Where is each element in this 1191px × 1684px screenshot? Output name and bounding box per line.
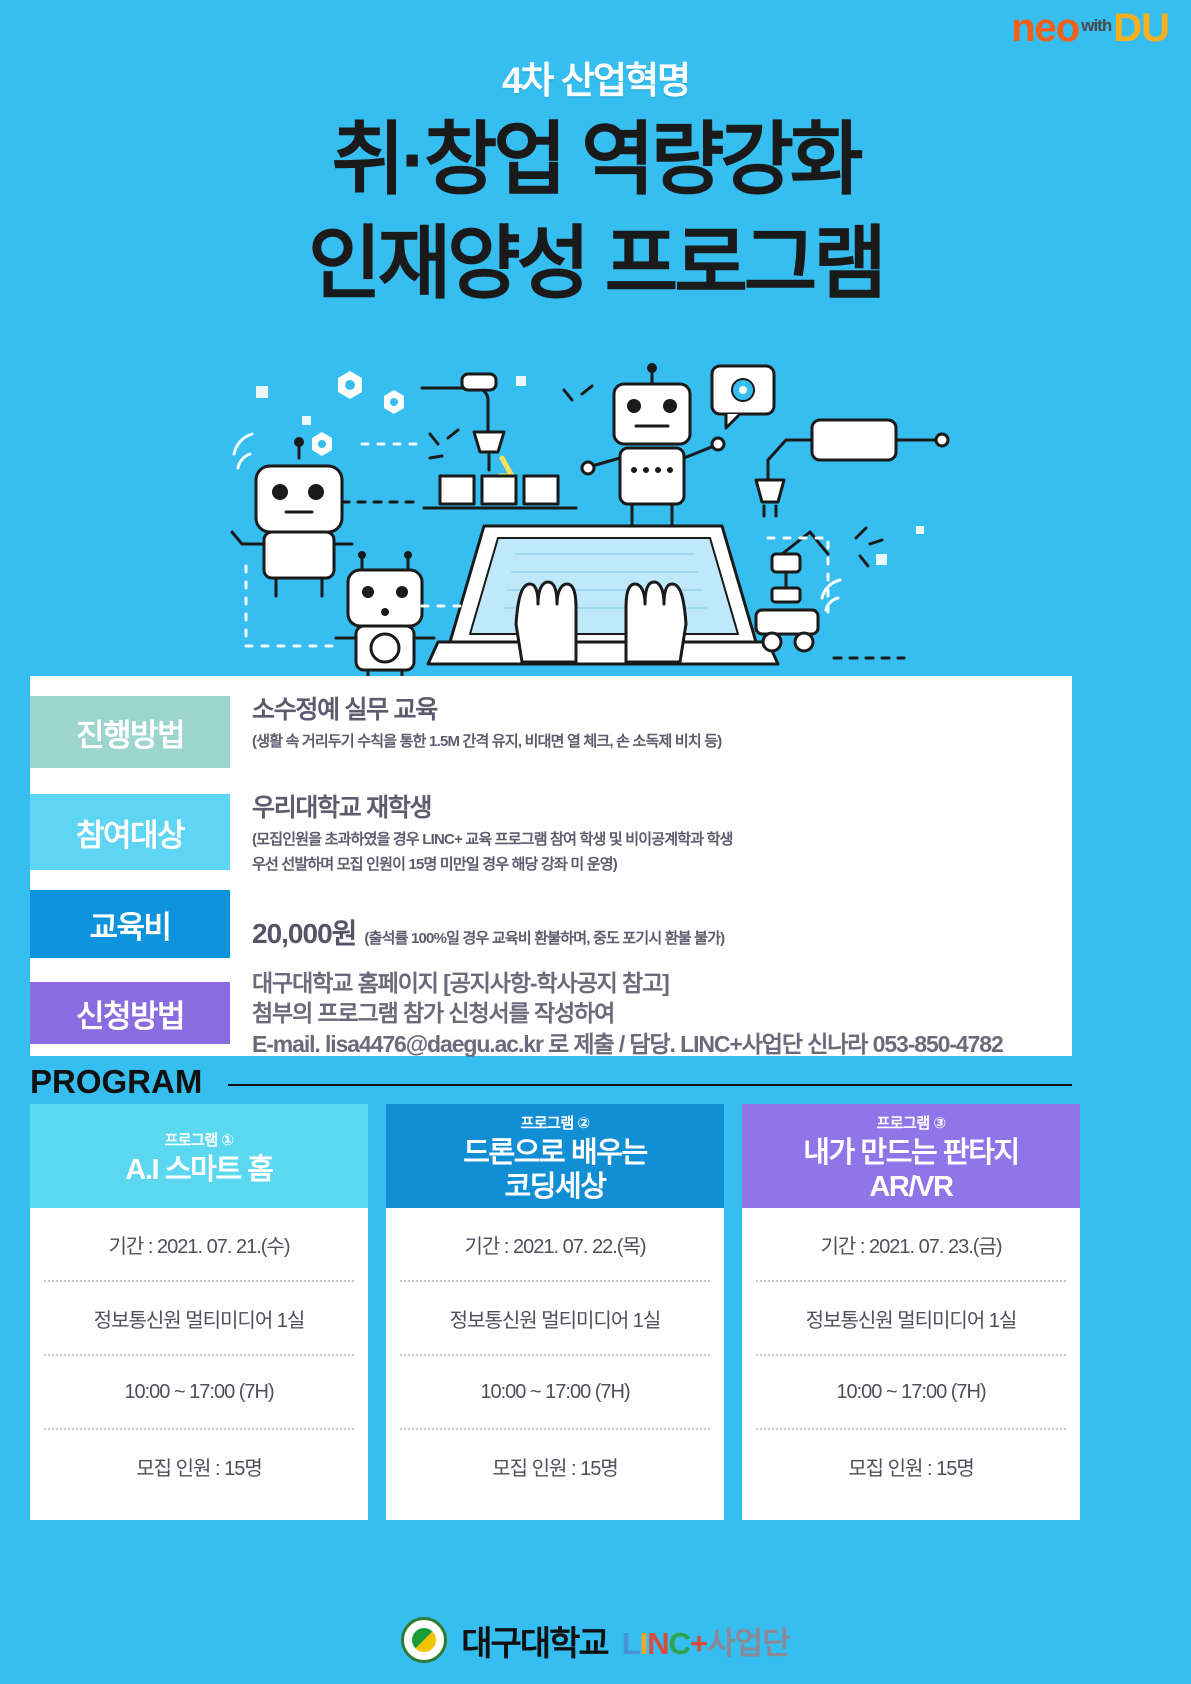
program-card-3-time: 10:00 ~ 17:00 (7H) xyxy=(756,1356,1066,1430)
headline-kicker: 4차 산업혁명 xyxy=(0,62,1191,99)
info-tag-fee: 교육비 xyxy=(30,890,230,958)
linc-letter-c: C xyxy=(669,1626,690,1661)
program-card-1-place: 정보통신원 멀티미디어 1실 xyxy=(44,1282,354,1356)
program-card-3-capacity: 모집 인원 : 15명 xyxy=(756,1430,1066,1502)
program-card-1-time: 10:00 ~ 17:00 (7H) xyxy=(44,1356,354,1430)
program-section-header: PROGRAM xyxy=(30,1060,1072,1104)
headline-block: 4차 산업혁명 취·창업 역량강화 인재양성 프로그램 xyxy=(0,62,1191,308)
program-card-3-date: 기간 : 2021. 07. 23.(금) xyxy=(756,1208,1066,1282)
program-card-1-kicker: 프로그램 ① xyxy=(164,1129,233,1150)
footer-university-name: 대구대학교 xyxy=(461,1616,607,1665)
headline-line-2: 인재양성 프로그램 xyxy=(0,219,1191,309)
linc-letter-n: N xyxy=(647,1626,668,1661)
logo-du-text: DU xyxy=(1113,8,1169,48)
program-card-2-place: 정보통신원 멀티미디어 1실 xyxy=(400,1282,710,1356)
poster-root: neo with DU 4차 산업혁명 취·창업 역량강화 인재양성 프로그램 xyxy=(0,0,1191,1684)
program-card-list: 프로그램 ① A.I 스마트 홈 기간 : 2021. 07. 21.(수) 정… xyxy=(30,1104,1162,1520)
program-card-1-capacity: 모집 인원 : 15명 xyxy=(44,1430,354,1502)
program-card-3-title: 내가 만드는 판타지 AR/VR xyxy=(803,1137,1019,1204)
university-seal-icon xyxy=(401,1617,447,1663)
method-title: 소수정예 실무 교육 xyxy=(252,696,721,725)
method-note: (생활 속 거리두기 수칙을 통한 1.5M 간격 유지, 비대면 열 체크, … xyxy=(252,730,721,753)
target-title: 우리대학교 재학생 xyxy=(252,794,733,823)
program-card-1-title: A.I 스마트 홈 xyxy=(125,1154,272,1188)
program-heading: PROGRAM xyxy=(30,1063,202,1101)
program-card-3-title-line-2: AR/VR xyxy=(803,1171,1019,1205)
program-card-2[interactable]: 프로그램 ② 드론으로 배우는 코딩세상 기간 : 2021. 07. 22.(… xyxy=(386,1104,724,1520)
program-divider xyxy=(228,1084,1072,1086)
info-row-fee: 교육비 20,000원 (출석률 100%일 경우 교육비 환불하며, 중도 포… xyxy=(30,890,724,958)
linc-letter-l: L xyxy=(622,1626,640,1661)
apply-line-3: E-mail. lisa4476@daegu.ac.kr 로 제출 / 담당. … xyxy=(252,1029,1003,1059)
program-card-1-body: 기간 : 2021. 07. 21.(수) 정보통신원 멀티미디어 1실 10:… xyxy=(30,1208,368,1520)
program-card-2-kicker: 프로그램 ② xyxy=(520,1112,589,1133)
info-tag-method: 진행방법 xyxy=(30,696,230,768)
linc-letter-plus: + xyxy=(690,1626,707,1661)
info-body-target: 우리대학교 재학생 (모집인원을 초과하였을 경우 LINC+ 교육 프로그램 … xyxy=(230,794,733,876)
linc-suffix: 사업단 xyxy=(707,1626,790,1661)
program-card-1-date: 기간 : 2021. 07. 21.(수) xyxy=(44,1208,354,1282)
program-card-3-title-line-1: 내가 만드는 판타지 xyxy=(803,1137,1019,1171)
footer-branding: 대구대학교 LINC+사업단 xyxy=(0,1596,1191,1684)
info-row-method: 진행방법 소수정예 실무 교육 (생활 속 거리두기 수칙을 통한 1.5M 간… xyxy=(30,696,721,768)
robotics-illustration xyxy=(0,358,1191,676)
logo-with-text: with xyxy=(1081,17,1111,34)
program-card-2-title: 드론으로 배우는 코딩세상 xyxy=(463,1137,647,1204)
program-card-3-place: 정보통신원 멀티미디어 1실 xyxy=(756,1282,1066,1356)
program-card-1-header: 프로그램 ① A.I 스마트 홈 xyxy=(30,1104,368,1208)
program-card-2-header: 프로그램 ② 드론으로 배우는 코딩세상 xyxy=(386,1104,724,1208)
apply-line-2: 첨부의 프로그램 참가 신청서를 작성하여 xyxy=(252,998,1003,1028)
program-card-2-date: 기간 : 2021. 07. 22.(목) xyxy=(400,1208,710,1282)
program-card-2-body: 기간 : 2021. 07. 22.(목) 정보통신원 멀티미디어 1실 10:… xyxy=(386,1208,724,1520)
fee-amount: 20,000원 xyxy=(252,912,356,952)
program-card-2-title-line-2: 코딩세상 xyxy=(463,1171,647,1205)
info-row-target: 참여대상 우리대학교 재학생 (모집인원을 초과하였을 경우 LINC+ 교육 … xyxy=(30,794,733,876)
info-row-apply: 신청방법 대구대학교 홈페이지 [공지사항-학사공지 참고] 첨부의 프로그램 … xyxy=(30,982,1003,1059)
program-card-3-header: 프로그램 ③ 내가 만드는 판타지 AR/VR xyxy=(742,1104,1080,1208)
logo-neo-text: neo xyxy=(1011,8,1079,48)
program-card-1[interactable]: 프로그램 ① A.I 스마트 홈 기간 : 2021. 07. 21.(수) 정… xyxy=(30,1104,368,1520)
info-body-method: 소수정예 실무 교육 (생활 속 거리두기 수칙을 통한 1.5M 간격 유지,… xyxy=(230,696,721,768)
program-card-3-body: 기간 : 2021. 07. 23.(금) 정보통신원 멀티미디어 1실 10:… xyxy=(742,1208,1080,1520)
info-panel: 진행방법 소수정예 실무 교육 (생활 속 거리두기 수칙을 통한 1.5M 간… xyxy=(30,676,1072,1056)
info-body-apply: 대구대학교 홈페이지 [공지사항-학사공지 참고] 첨부의 프로그램 참가 신청… xyxy=(230,968,1003,1059)
program-card-2-capacity: 모집 인원 : 15명 xyxy=(400,1430,710,1502)
info-tag-apply: 신청방법 xyxy=(30,982,230,1044)
target-note-line-1: (모집인원을 초과하였을 경우 LINC+ 교육 프로그램 참여 학생 및 비이… xyxy=(252,828,733,851)
program-card-3[interactable]: 프로그램 ③ 내가 만드는 판타지 AR/VR 기간 : 2021. 07. 2… xyxy=(742,1104,1080,1520)
target-note-line-2: 우선 선발하며 모집 인원이 15명 미만일 경우 해당 강좌 미 운영) xyxy=(252,853,733,876)
info-tag-target: 참여대상 xyxy=(30,794,230,870)
program-card-2-time: 10:00 ~ 17:00 (7H) xyxy=(400,1356,710,1430)
program-card-2-title-line-1: 드론으로 배우는 xyxy=(463,1137,647,1171)
apply-line-1: 대구대학교 홈페이지 [공지사항-학사공지 참고] xyxy=(252,968,1003,998)
info-body-fee: 20,000원 (출석률 100%일 경우 교육비 환불하며, 중도 포기시 환… xyxy=(230,890,724,958)
neo-with-du-logo: neo with DU xyxy=(1011,8,1169,48)
headline-line-1: 취·창업 역량강화 xyxy=(0,115,1191,205)
linc-plus-logo: LINC+사업단 xyxy=(622,1618,790,1663)
fee-note: (출석률 100%일 경우 교육비 환불하며, 중도 포기시 환불 불가) xyxy=(364,927,724,950)
program-card-3-kicker: 프로그램 ③ xyxy=(876,1112,945,1133)
